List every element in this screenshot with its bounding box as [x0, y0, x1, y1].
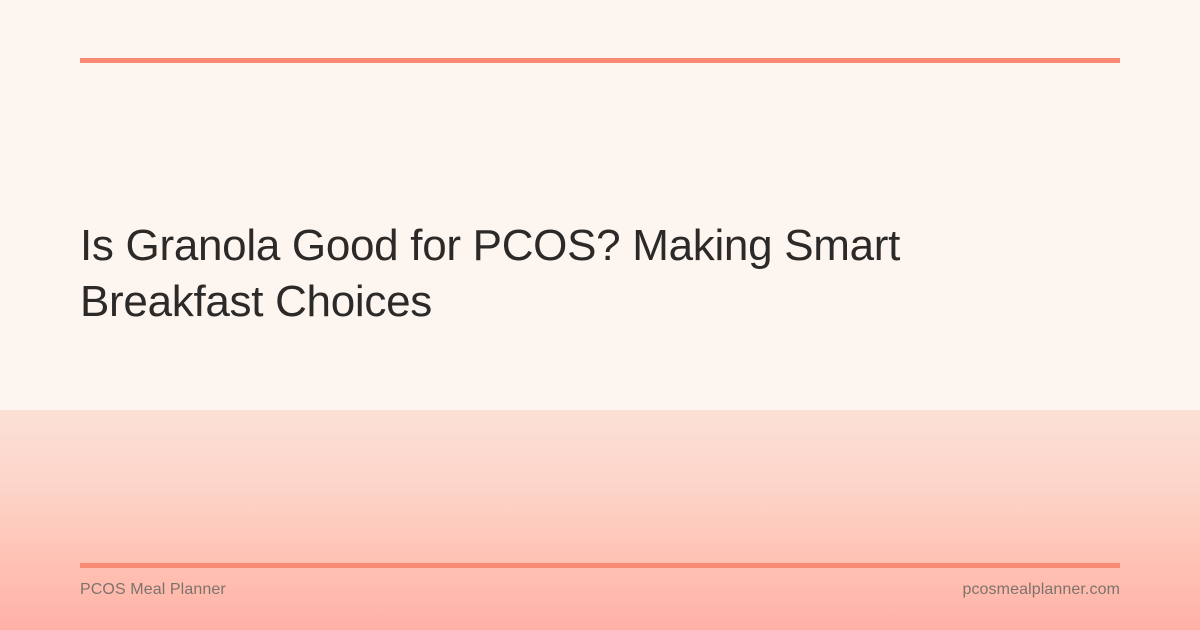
- bottom-accent-rule: [80, 563, 1120, 568]
- title-block: Is Granola Good for PCOS? Making Smart B…: [80, 218, 980, 330]
- footer-brand-name: PCOS Meal Planner: [80, 580, 226, 600]
- share-card: Is Granola Good for PCOS? Making Smart B…: [0, 0, 1200, 630]
- footer: PCOS Meal Planner pcosmealplanner.com: [80, 580, 1120, 600]
- footer-domain: pcosmealplanner.com: [962, 580, 1120, 600]
- page-title: Is Granola Good for PCOS? Making Smart B…: [80, 218, 980, 330]
- top-accent-rule: [80, 58, 1120, 63]
